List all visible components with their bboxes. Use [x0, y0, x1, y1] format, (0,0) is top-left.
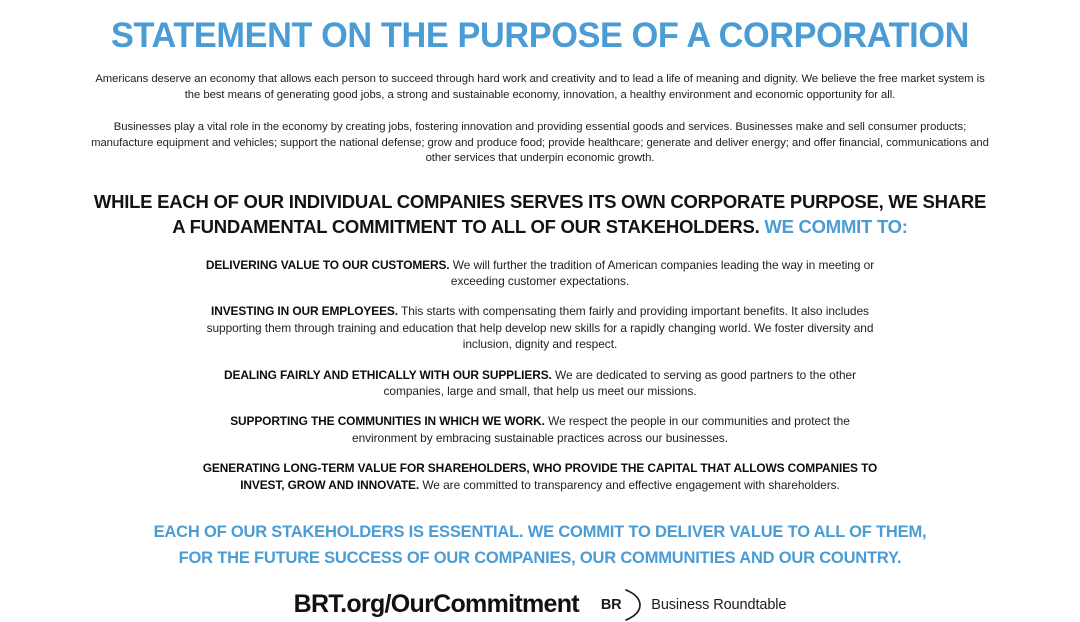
statement-line-2-text: A FUNDAMENTAL COMMITMENT TO ALL OF OUR S…: [172, 216, 759, 237]
arc-icon: [623, 588, 643, 622]
business-roundtable-logo[interactable]: BR Business Roundtable: [601, 588, 786, 622]
shared-commitment-statement: WHILE EACH OF OUR INDIVIDUAL COMPANIES S…: [0, 189, 1080, 239]
commitment-lead: SUPPORTING THE COMMUNITIES IN WHICH WE W…: [230, 414, 545, 428]
statement-page: STATEMENT ON THE PURPOSE OF A CORPORATIO…: [0, 0, 1080, 567]
closing-statement: EACH OF OUR STAKEHOLDERS IS ESSENTIAL. W…: [0, 519, 1080, 571]
commitment-item-suppliers: DEALING FAIRLY AND ETHICALLY WITH OUR SU…: [200, 367, 880, 400]
commitment-lead: INVESTING IN OUR EMPLOYEES.: [211, 304, 398, 318]
business-roundtable-wordmark: Business Roundtable: [651, 598, 786, 613]
commitment-body: We will further the tradition of America…: [451, 258, 874, 288]
closing-line-2: FOR THE FUTURE SUCCESS OF OUR COMPANIES,…: [0, 545, 1080, 571]
statement-line-1: WHILE EACH OF OUR INDIVIDUAL COMPANIES S…: [0, 189, 1080, 214]
commitment-lead: DEALING FAIRLY AND ETHICALLY WITH OUR SU…: [224, 368, 552, 382]
intro-paragraph-2: Businesses play a vital role in the econ…: [90, 120, 990, 167]
commitment-item-employees: INVESTING IN OUR EMPLOYEES. This starts …: [200, 303, 880, 352]
closing-line-1: EACH OF OUR STAKEHOLDERS IS ESSENTIAL. W…: [0, 519, 1080, 545]
intro-section: Americans deserve an economy that allows…: [0, 72, 1080, 167]
br-monogram-text: BR: [601, 598, 623, 613]
commitment-body: We are committed to transparency and eff…: [422, 478, 839, 492]
br-monogram-mark: BR: [601, 588, 643, 622]
commitment-item-customers: DELIVERING VALUE TO OUR CUSTOMERS. We wi…: [200, 257, 880, 290]
commitments-list: DELIVERING VALUE TO OUR CUSTOMERS. We wi…: [0, 257, 1080, 493]
commitment-item-communities: SUPPORTING THE COMMUNITIES IN WHICH WE W…: [200, 413, 880, 446]
intro-paragraph-1: Americans deserve an economy that allows…: [90, 72, 990, 103]
footer: BRT.org/OurCommitment BR Business Roundt…: [0, 588, 1080, 622]
we-commit-to-accent: WE COMMIT TO:: [764, 216, 907, 237]
statement-line-2: A FUNDAMENTAL COMMITMENT TO ALL OF OUR S…: [0, 214, 1080, 239]
brt-url-link[interactable]: BRT.org/OurCommitment: [294, 592, 579, 617]
commitment-lead: DELIVERING VALUE TO OUR CUSTOMERS.: [206, 258, 450, 272]
page-title: STATEMENT ON THE PURPOSE OF A CORPORATIO…: [11, 0, 1069, 53]
commitment-item-shareholders: GENERATING LONG-TERM VALUE FOR SHAREHOLD…: [200, 460, 880, 493]
